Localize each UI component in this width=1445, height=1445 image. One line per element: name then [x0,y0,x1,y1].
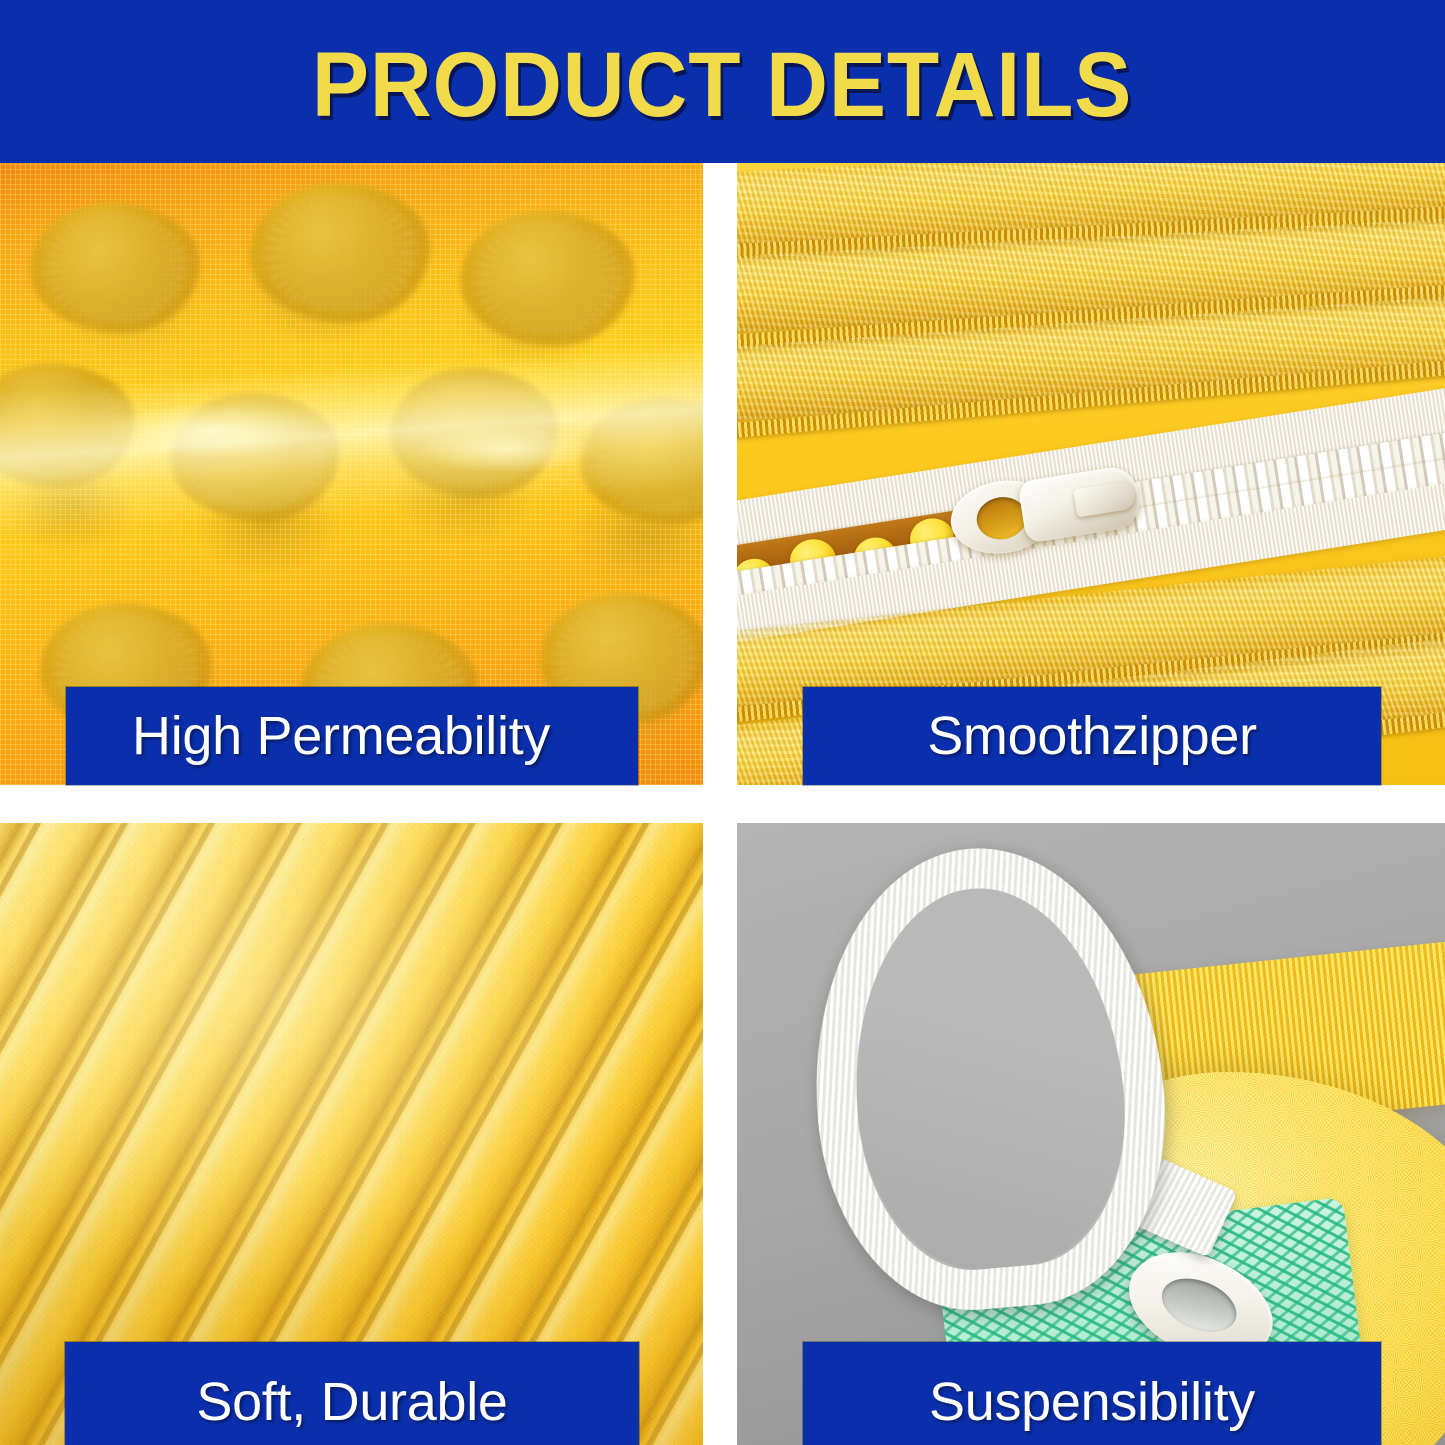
caption-smooth-zipper: Smoothzipper [803,687,1381,785]
caption-suspensibility: Suspensibility [803,1342,1381,1445]
caption-high-permeability: High Permeability [66,687,638,785]
caption-label: Soft, Durable [196,1374,507,1431]
product-details-infographic: PRODUCT DETAILS High Permeability [0,0,1445,1445]
caption-label: High Permeability [132,708,550,765]
caption-soft-durable: Soft, Durable [65,1342,639,1445]
page-title: PRODUCT DETAILS [312,33,1132,131]
strap-shading [839,877,1138,1279]
caption-label: Suspensibility [929,1374,1255,1431]
caption-label: Smoothzipper [927,708,1257,765]
header-banner: PRODUCT DETAILS [0,0,1445,163]
